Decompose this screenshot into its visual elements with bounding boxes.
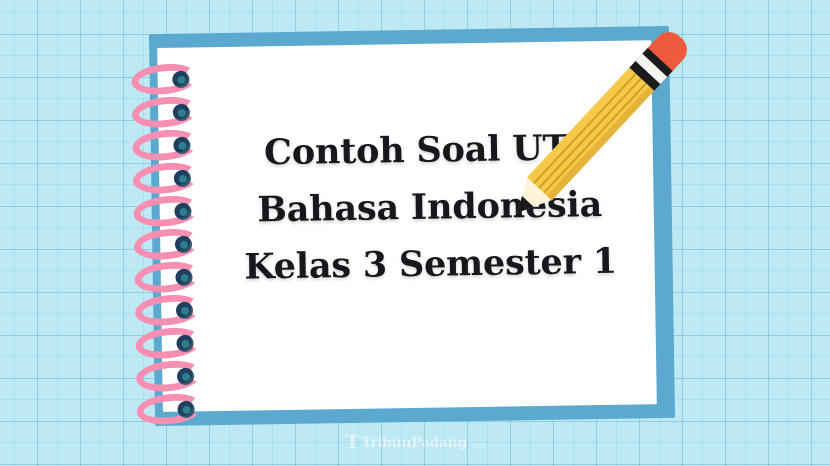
thumbnail-canvas: Contoh Soal UTS Bahasa Indonesia Kelas 3… xyxy=(0,0,830,466)
notebook-page: Contoh Soal UTS Bahasa Indonesia Kelas 3… xyxy=(157,40,657,412)
spiral-binding xyxy=(125,59,231,433)
spiral-hole xyxy=(173,137,190,154)
title-line-2: Bahasa Indonesia xyxy=(219,175,640,239)
title-line-3: Kelas 3 Semester 1 xyxy=(220,232,641,296)
